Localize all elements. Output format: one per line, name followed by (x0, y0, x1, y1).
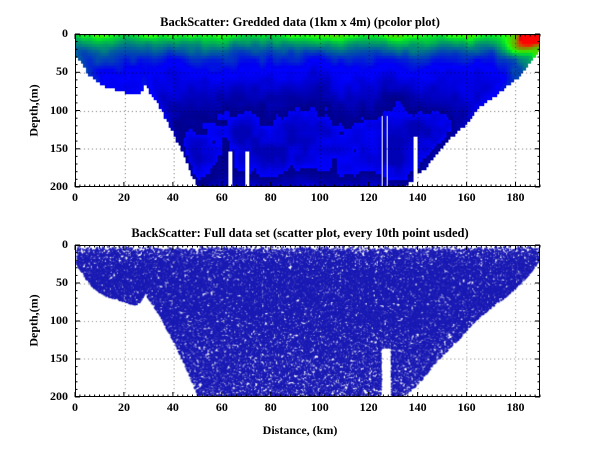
x-tick-label: 100 (300, 190, 340, 205)
x-tick-label: 20 (104, 190, 144, 205)
x-axis-label-bottom: Distance, (km) (0, 423, 600, 438)
chart-title-bottom: BackScatter: Full data set (scatter plot… (0, 226, 600, 241)
x-tick-label: 0 (55, 190, 95, 205)
x-tick-label: 60 (202, 400, 242, 415)
x-tick-label: 40 (153, 400, 193, 415)
plot-area-gridded (75, 34, 540, 187)
y-tick-label: 50 (28, 64, 68, 79)
x-tick-label: 40 (153, 190, 193, 205)
y-tick-label: 150 (28, 351, 68, 366)
y-tick-label: 100 (28, 313, 68, 328)
pcolor-backscatter-image (76, 35, 539, 186)
x-tick-label: 80 (251, 190, 291, 205)
x-tick-label: 180 (496, 190, 536, 205)
y-tick-label: 0 (28, 237, 68, 252)
x-tick-label: 100 (300, 400, 340, 415)
y-tick-label: 50 (28, 275, 68, 290)
x-tick-label: 160 (447, 400, 487, 415)
y-tick-label: 0 (28, 26, 68, 41)
x-tick-label: 60 (202, 190, 242, 205)
x-tick-label: 180 (496, 400, 536, 415)
chart-title-top: BackScatter: Gredded data (1km x 4m) (pc… (0, 15, 600, 30)
figure-canvas: BackScatter: Gredded data (1km x 4m) (pc… (0, 0, 600, 451)
y-tick-label: 100 (28, 103, 68, 118)
x-tick-label: 160 (447, 190, 487, 205)
plot-area-scatter (75, 245, 540, 397)
scatter-backscatter-points (76, 246, 539, 396)
x-tick-label: 80 (251, 400, 291, 415)
x-tick-label: 140 (398, 400, 438, 415)
y-tick-label: 150 (28, 141, 68, 156)
x-tick-label: 140 (398, 190, 438, 205)
x-tick-label: 120 (349, 400, 389, 415)
x-tick-label: 20 (104, 400, 144, 415)
x-tick-label: 120 (349, 190, 389, 205)
x-tick-label: 0 (55, 400, 95, 415)
